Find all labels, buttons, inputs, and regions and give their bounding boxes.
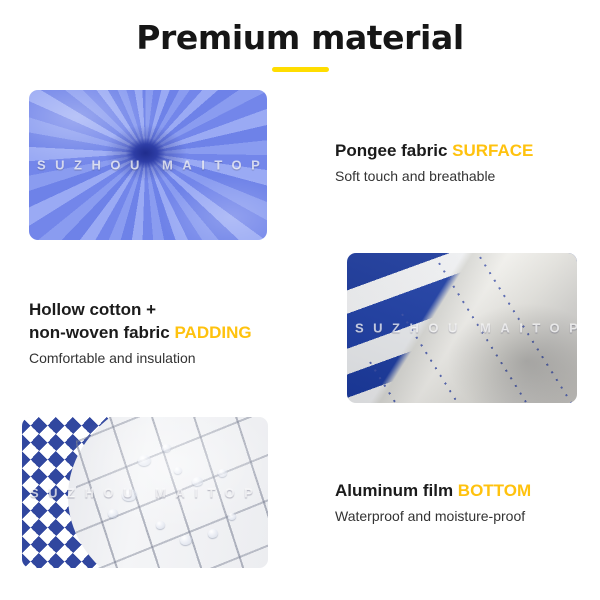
- title-underline: [272, 67, 329, 72]
- caption-title-bottom: Aluminum film BOTTOM: [335, 479, 531, 502]
- feature-caption-bottom: Aluminum film BOTTOM Waterproof and mois…: [335, 479, 531, 526]
- caption-title-line1-padding: Hollow cotton +: [29, 298, 252, 321]
- infographic-page: Premium material SUZHOU MAITOP Pongee fa…: [0, 0, 600, 600]
- caption-title-main-padding: non-woven fabric: [29, 323, 170, 342]
- aluminum-gloss-overlay: [22, 417, 268, 568]
- caption-title-highlight-padding: PADDING: [174, 323, 251, 342]
- caption-title-highlight-bottom: BOTTOM: [458, 481, 531, 500]
- caption-title-main-bottom: Aluminum film: [335, 481, 453, 500]
- feature-caption-padding: Hollow cotton + non-woven fabric PADDING…: [29, 298, 252, 368]
- caption-subtitle-bottom: Waterproof and moisture-proof: [335, 506, 531, 526]
- padding-quilting-photo: SUZHOU MAITOP: [347, 253, 577, 403]
- caption-title-padding: Hollow cotton + non-woven fabric PADDING: [29, 298, 252, 344]
- pongee-fabric-photo: SUZHOU MAITOP: [29, 90, 267, 240]
- caption-subtitle-surface: Soft touch and breathable: [335, 166, 533, 186]
- feature-caption-surface: Pongee fabric SURFACE Soft touch and bre…: [335, 139, 533, 186]
- aluminum-film-photo: SUZHOU MAITOP: [22, 417, 268, 568]
- fabric-sheen-overlay: [29, 90, 267, 240]
- page-title: Premium material: [0, 18, 600, 58]
- header: Premium material: [0, 18, 600, 72]
- caption-title-main-surface: Pongee fabric: [335, 141, 447, 160]
- caption-subtitle-padding: Comfortable and insulation: [29, 348, 252, 368]
- padding-shading-overlay: [347, 253, 577, 403]
- caption-title-surface: Pongee fabric SURFACE: [335, 139, 533, 162]
- caption-title-highlight-surface: SURFACE: [452, 141, 533, 160]
